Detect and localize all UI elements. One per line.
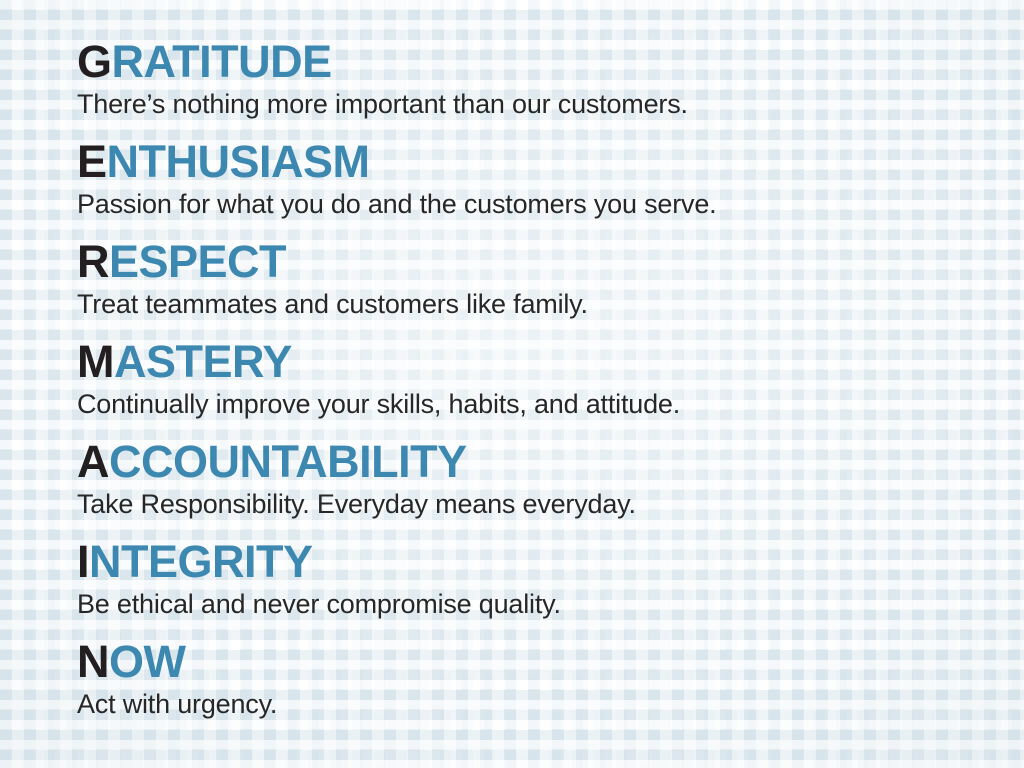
value-heading-rest: RATITUDE (112, 36, 332, 87)
value-heading-enthusiasm: ENTHUSIASM (77, 139, 716, 185)
value-heading-rest: NTHUSIASM (107, 136, 370, 187)
value-description-enthusiasm: Passion for what you do and the customer… (77, 189, 716, 219)
value-initial-letter: M (77, 336, 114, 387)
value-heading-respect: RESPECT (77, 239, 588, 285)
value-block-integrity: INTEGRITY Be ethical and never compromis… (77, 539, 561, 619)
value-heading-rest: ESPECT (109, 236, 286, 287)
value-heading-now: NOW (77, 639, 277, 685)
value-heading-rest: OW (109, 636, 185, 687)
value-initial-letter: A (77, 436, 109, 487)
value-heading-accountability: ACCOUNTABILITY (77, 439, 636, 485)
value-initial-letter: N (77, 636, 109, 687)
value-heading-mastery: MASTERY (77, 339, 680, 385)
value-description-gratitude: There’s nothing more important than our … (77, 89, 688, 119)
value-description-mastery: Continually improve your skills, habits,… (77, 389, 680, 419)
value-description-now: Act with urgency. (77, 689, 277, 719)
value-block-mastery: MASTERY Continually improve your skills,… (77, 339, 680, 419)
value-heading-rest: CCOUNTABILITY (109, 436, 467, 487)
value-description-respect: Treat teammates and customers like famil… (77, 289, 588, 319)
value-initial-letter: I (77, 536, 89, 587)
value-initial-letter: R (77, 236, 109, 287)
value-block-enthusiasm: ENTHUSIASM Passion for what you do and t… (77, 139, 716, 219)
value-heading-integrity: INTEGRITY (77, 539, 561, 585)
value-description-accountability: Take Responsibility. Everyday means ever… (77, 489, 636, 519)
value-initial-letter: E (77, 136, 107, 187)
value-heading-rest: NTEGRITY (89, 536, 313, 587)
value-description-integrity: Be ethical and never compromise quality. (77, 589, 561, 619)
values-poster: GRATITUDE There’s nothing more important… (0, 0, 1024, 768)
value-block-now: NOW Act with urgency. (77, 639, 277, 719)
value-heading-gratitude: GRATITUDE (77, 39, 688, 85)
value-block-accountability: ACCOUNTABILITY Take Responsibility. Ever… (77, 439, 636, 519)
value-block-gratitude: GRATITUDE There’s nothing more important… (77, 39, 688, 119)
value-heading-rest: ASTERY (114, 336, 292, 387)
value-initial-letter: G (77, 36, 112, 87)
value-block-respect: RESPECT Treat teammates and customers li… (77, 239, 588, 319)
